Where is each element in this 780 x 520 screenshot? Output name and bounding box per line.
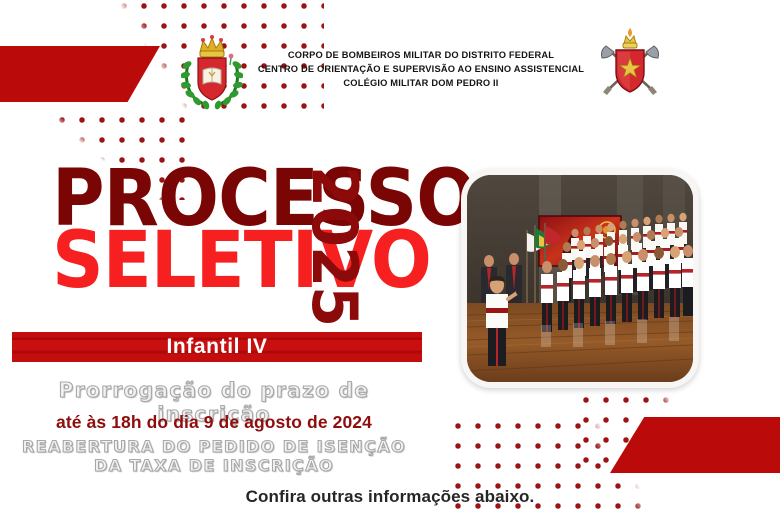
photo-frame [461, 169, 699, 388]
notice-reopening: REABERTURA DO PEDIDO DE ISENÇÃO DA TAXA … [14, 437, 414, 475]
brasao-imperial-icon [181, 32, 243, 110]
headline-year: 2025 [303, 166, 365, 326]
level-banner: Infantil IV [12, 332, 422, 362]
footer-note: Confira outras informações abaixo. [180, 487, 600, 507]
headline-row-2: SELETIVO [52, 228, 513, 296]
header-institution-text: CORPO DE BOMBEIROS MILITAR DO DISTRITO F… [250, 48, 592, 90]
notice-deadline: até às 18h do dia 9 de agosto de 2024 [14, 412, 414, 433]
poster-canvas: CORPO DE BOMBEIROS MILITAR DO DISTRITO F… [0, 0, 780, 520]
header-line-2: CENTRO DE ORIENTAÇÃO E SUPERVISÃO AO ENS… [250, 62, 592, 76]
header-line-3: COLÉGIO MILITAR DOM PEDRO II [250, 76, 592, 90]
headline-word-seletivo: SELETIVO [52, 228, 476, 294]
header-line-1: CORPO DE BOMBEIROS MILITAR DO DISTRITO F… [250, 48, 592, 62]
main-headline: PROCESSO SELETIVO [52, 166, 513, 296]
header: CORPO DE BOMBEIROS MILITAR DO DISTRITO F… [0, 26, 780, 112]
ceremony-photo [467, 175, 693, 382]
cbmdf-emblem-icon [594, 28, 666, 106]
ceremony-photo-image [467, 175, 693, 382]
level-banner-label: Infantil IV [12, 332, 422, 362]
